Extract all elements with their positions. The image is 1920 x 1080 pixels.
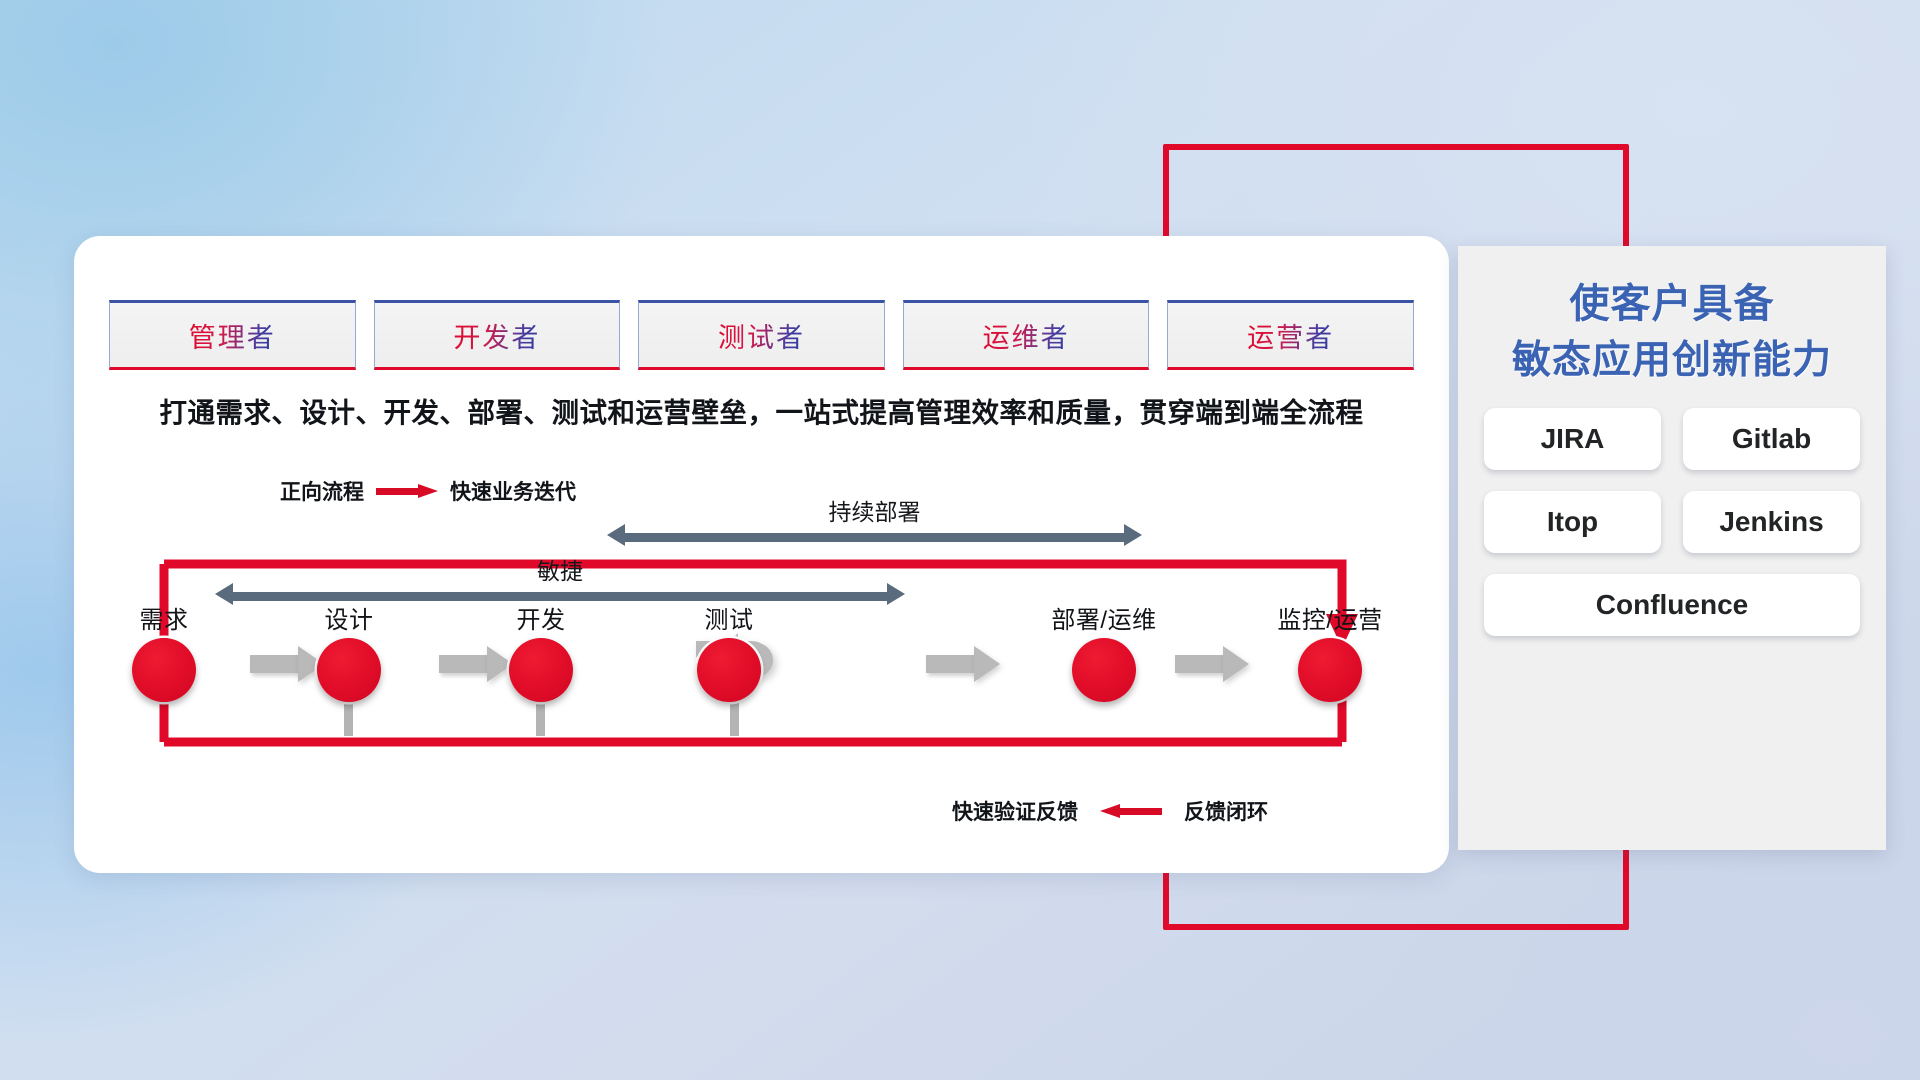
stage-label: 部署/运维	[1044, 600, 1164, 635]
tools-panel: 使客户具备 敏态应用创新能力 JIRA Gitlab Itop Jenkins …	[1458, 246, 1886, 850]
tools-panel-title-line1: 使客户具备	[1484, 276, 1860, 333]
stage-dot	[1298, 638, 1362, 702]
legend-feedback-right-label: 反馈闭环	[1184, 796, 1268, 826]
stage-dot	[132, 638, 196, 702]
measure-agile: 敏捷	[215, 586, 905, 608]
tools-panel-title: 使客户具备 敏态应用创新能力	[1484, 276, 1860, 388]
stage-label: 需求	[104, 600, 224, 635]
role-label: 运营者	[1247, 316, 1334, 355]
role-box-operations[interactable]: 运营者	[1167, 300, 1414, 370]
tool-chip-itop[interactable]: Itop	[1484, 491, 1661, 553]
tool-chip-jira[interactable]: JIRA	[1484, 408, 1661, 470]
role-label: 运维者	[983, 316, 1070, 355]
tool-chip-grid: JIRA Gitlab Itop Jenkins Confluence	[1484, 408, 1860, 636]
headline-text: 打通需求、设计、开发、部署、测试和运营壁垒，一站式提高管理效率和质量，贯穿端到端…	[74, 390, 1449, 430]
legend-feedback-left-label: 快速验证反馈	[952, 796, 1078, 826]
arrow-right-gray-icon	[1175, 646, 1249, 682]
arrow-right-gray-icon	[926, 646, 1000, 682]
pipeline-stage-deploy-ops[interactable]: 部署/运维	[1044, 600, 1164, 702]
tool-chip-confluence[interactable]: Confluence	[1484, 574, 1860, 636]
role-box-developer[interactable]: 开发者	[374, 300, 621, 370]
measure-label: 敏捷	[215, 552, 905, 586]
pipeline-stage-requirement[interactable]: 需求	[104, 600, 224, 702]
role-label: 管理者	[189, 316, 276, 355]
legend-forward-left-label: 正向流程	[280, 476, 364, 506]
tools-panel-title-line2: 敏态应用创新能力	[1484, 333, 1860, 388]
legend-forward-right-label: 快速业务迭代	[450, 476, 576, 506]
measure-continuous-deployment: 持续部署	[607, 527, 1142, 549]
arrow-head-right-icon	[887, 583, 905, 605]
measure-bar	[624, 533, 1125, 542]
role-box-tester[interactable]: 测试者	[638, 300, 885, 370]
pipeline-stage-monitor-operations[interactable]: 监控/运营	[1270, 600, 1390, 702]
tool-chip-jenkins[interactable]: Jenkins	[1683, 491, 1860, 553]
stage-label: 监控/运营	[1270, 600, 1390, 635]
stage-dot	[697, 638, 761, 702]
measure-bar	[232, 592, 888, 601]
tool-chip-gitlab[interactable]: Gitlab	[1683, 408, 1860, 470]
arrow-right-red-icon	[376, 484, 438, 498]
measure-label: 持续部署	[607, 493, 1142, 527]
role-box-manager[interactable]: 管理者	[109, 300, 356, 370]
arrow-head-right-icon	[1124, 524, 1142, 546]
stage-dot	[509, 638, 573, 702]
legend-forward-flow: 正向流程 快速业务迭代	[280, 476, 576, 506]
stage-dot	[1072, 638, 1136, 702]
pipeline-stage-development[interactable]: 开发	[481, 600, 601, 702]
arrow-head-left-icon	[607, 524, 625, 546]
arrow-left-red-icon	[1100, 804, 1162, 818]
stage-dot	[317, 638, 381, 702]
role-label: 测试者	[718, 316, 805, 355]
legend-feedback-loop: 快速验证反馈 反馈闭环	[952, 796, 1268, 826]
arrow-head-left-icon	[215, 583, 233, 605]
pipeline-stage-design[interactable]: 设计	[289, 600, 409, 702]
role-box-row: 管理者 开发者 测试者 运维者 运营者	[109, 300, 1414, 370]
pipeline-stage-test[interactable]: 测试	[669, 600, 789, 702]
role-label: 开发者	[453, 316, 540, 355]
role-box-ops[interactable]: 运维者	[903, 300, 1150, 370]
